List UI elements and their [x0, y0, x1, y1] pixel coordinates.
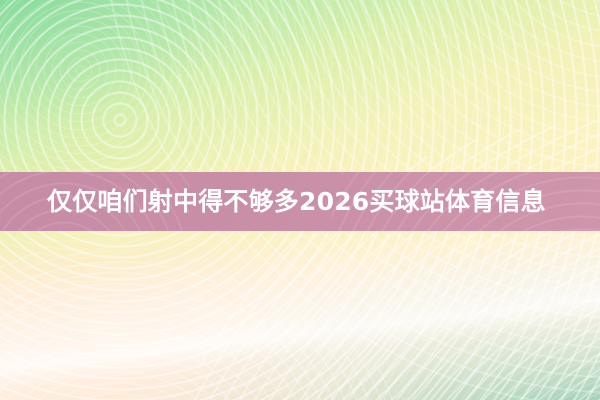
ripple-pattern-bottom-right — [170, 120, 600, 400]
banner-title: 仅仅咱们射中得不够多2026买球站体育信息 — [47, 189, 546, 214]
promo-banner: 仅仅咱们射中得不够多2026买球站体育信息 — [0, 0, 600, 400]
title-band: 仅仅咱们射中得不够多2026买球站体育信息 — [0, 172, 600, 231]
ripple-pattern-bottom-left — [0, 250, 460, 400]
ripple-pattern-bottom-right-fine — [300, 230, 600, 400]
